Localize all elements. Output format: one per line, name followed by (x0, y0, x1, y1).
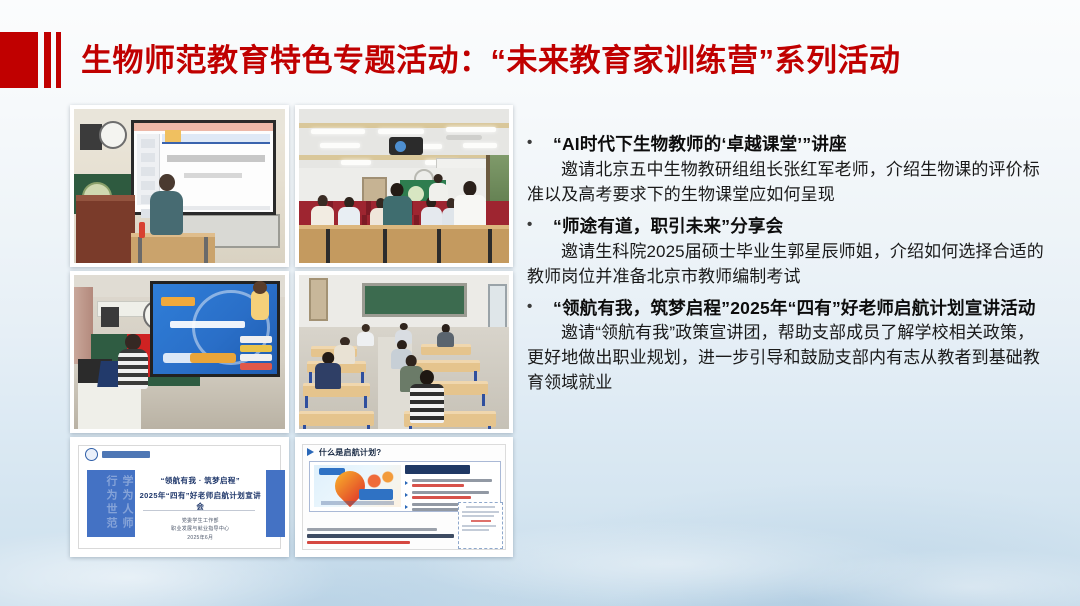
title-slide-right-band (266, 470, 285, 537)
thumb-content-slide[interactable]: 什么是启航计划? (295, 437, 514, 557)
section-1-body: 邀请北京五中生物教研组组长张红军老师，介绍生物课的评价标准以及高考要求下的生物课… (527, 158, 1047, 208)
bullet-triangle-icon (307, 448, 314, 456)
section-3-body: 邀请“领航有我”政策宣讲团，帮助支部成员了解学校相关政策，更好地做出职业规划，进… (527, 321, 1047, 396)
title-slide-sidebar-text: 学为人师 行为世范 (87, 470, 135, 537)
section-1-heading: “AI时代下生物教师的‘卓越课堂’”讲座 (553, 132, 1047, 157)
title-slide-sub3: 2025年6月 (139, 534, 261, 542)
photo-lecture-presenter[interactable] (70, 105, 289, 267)
presentation-slide: 生物师范教育特色专题活动：“未来教育家训练营”系列活动 (0, 0, 1080, 606)
bullet-dot-icon: • (527, 296, 553, 317)
university-logo (85, 448, 150, 461)
section-2-body: 邀请生科院2025届硕士毕业生郭星辰师姐，介绍如何选择合适的教师岗位并准备北京市… (527, 240, 1047, 290)
section-2-heading-row: • “师途有道，职引未来”分享会 (527, 214, 1047, 239)
section-3-heading: “领航有我，筑梦启程”2025年“四有”好老师启航计划宣讲活动 (553, 296, 1047, 321)
section-1: • “AI时代下生物教师的‘卓越课堂’”讲座 邀请北京五中生物教研组组长张红军老… (527, 132, 1047, 208)
bullet-dot-icon: • (527, 214, 553, 235)
title-decoration-icon (0, 32, 61, 88)
photo-row-3: 学为人师 行为世范 “领航有我 · 筑梦启程” 2025年“四有”好老师启航计划… (70, 437, 513, 557)
section-2-heading: “师途有道，职引未来”分享会 (553, 214, 1047, 239)
photo-row-1 (70, 105, 513, 267)
section-2: • “师途有道，职引未来”分享会 邀请生科院2025届硕士毕业生郭星辰师姐，介绍… (527, 214, 1047, 290)
title-slide-sub2: 职业发展与就业指导中心 (139, 525, 261, 533)
thumb-title-slide[interactable]: 学为人师 行为世范 “领航有我 · 筑梦启程” 2025年“四有”好老师启航计划… (70, 437, 289, 557)
title-slide-line2: 2025年“四有”好老师启航计划宣讲会 (139, 490, 261, 512)
photo-auditorium-audience[interactable] (295, 105, 514, 267)
photo-gallery: 学为人师 行为世范 “领航有我 · 筑梦启程” 2025年“四有”好老师启航计划… (70, 105, 513, 561)
title-slide-sidebar: 学为人师 行为世范 (87, 470, 135, 537)
title-slide-line1: “领航有我 · 筑梦启程” (139, 475, 261, 486)
section-3: • “领航有我，筑梦启程”2025年“四有”好老师启航计划宣讲活动 邀请“领航有… (527, 296, 1047, 397)
content-panel: • “AI时代下生物教师的‘卓越课堂’”讲座 邀请北京五中生物教研组组长张红军老… (527, 132, 1047, 402)
photo-row-2 (70, 271, 513, 433)
content-slide-heading: 什么是启航计划? (319, 447, 382, 458)
photo-classroom-students[interactable] (295, 271, 514, 433)
section-3-heading-row: • “领航有我，筑梦启程”2025年“四有”好老师启航计划宣讲活动 (527, 296, 1047, 321)
page-title: 生物师范教育特色专题活动：“未来教育家训练营”系列活动 (81, 45, 901, 76)
section-1-heading-row: • “AI时代下生物教师的‘卓越课堂’”讲座 (527, 132, 1047, 157)
title-slide-sub1: 党委学生工作部 (139, 517, 261, 525)
photo-speaker-blue-slide[interactable] (70, 271, 289, 433)
bullet-dot-icon: • (527, 132, 553, 153)
slide-title-row: 生物师范教育特色专题活动：“未来教育家训练营”系列活动 (0, 28, 901, 92)
